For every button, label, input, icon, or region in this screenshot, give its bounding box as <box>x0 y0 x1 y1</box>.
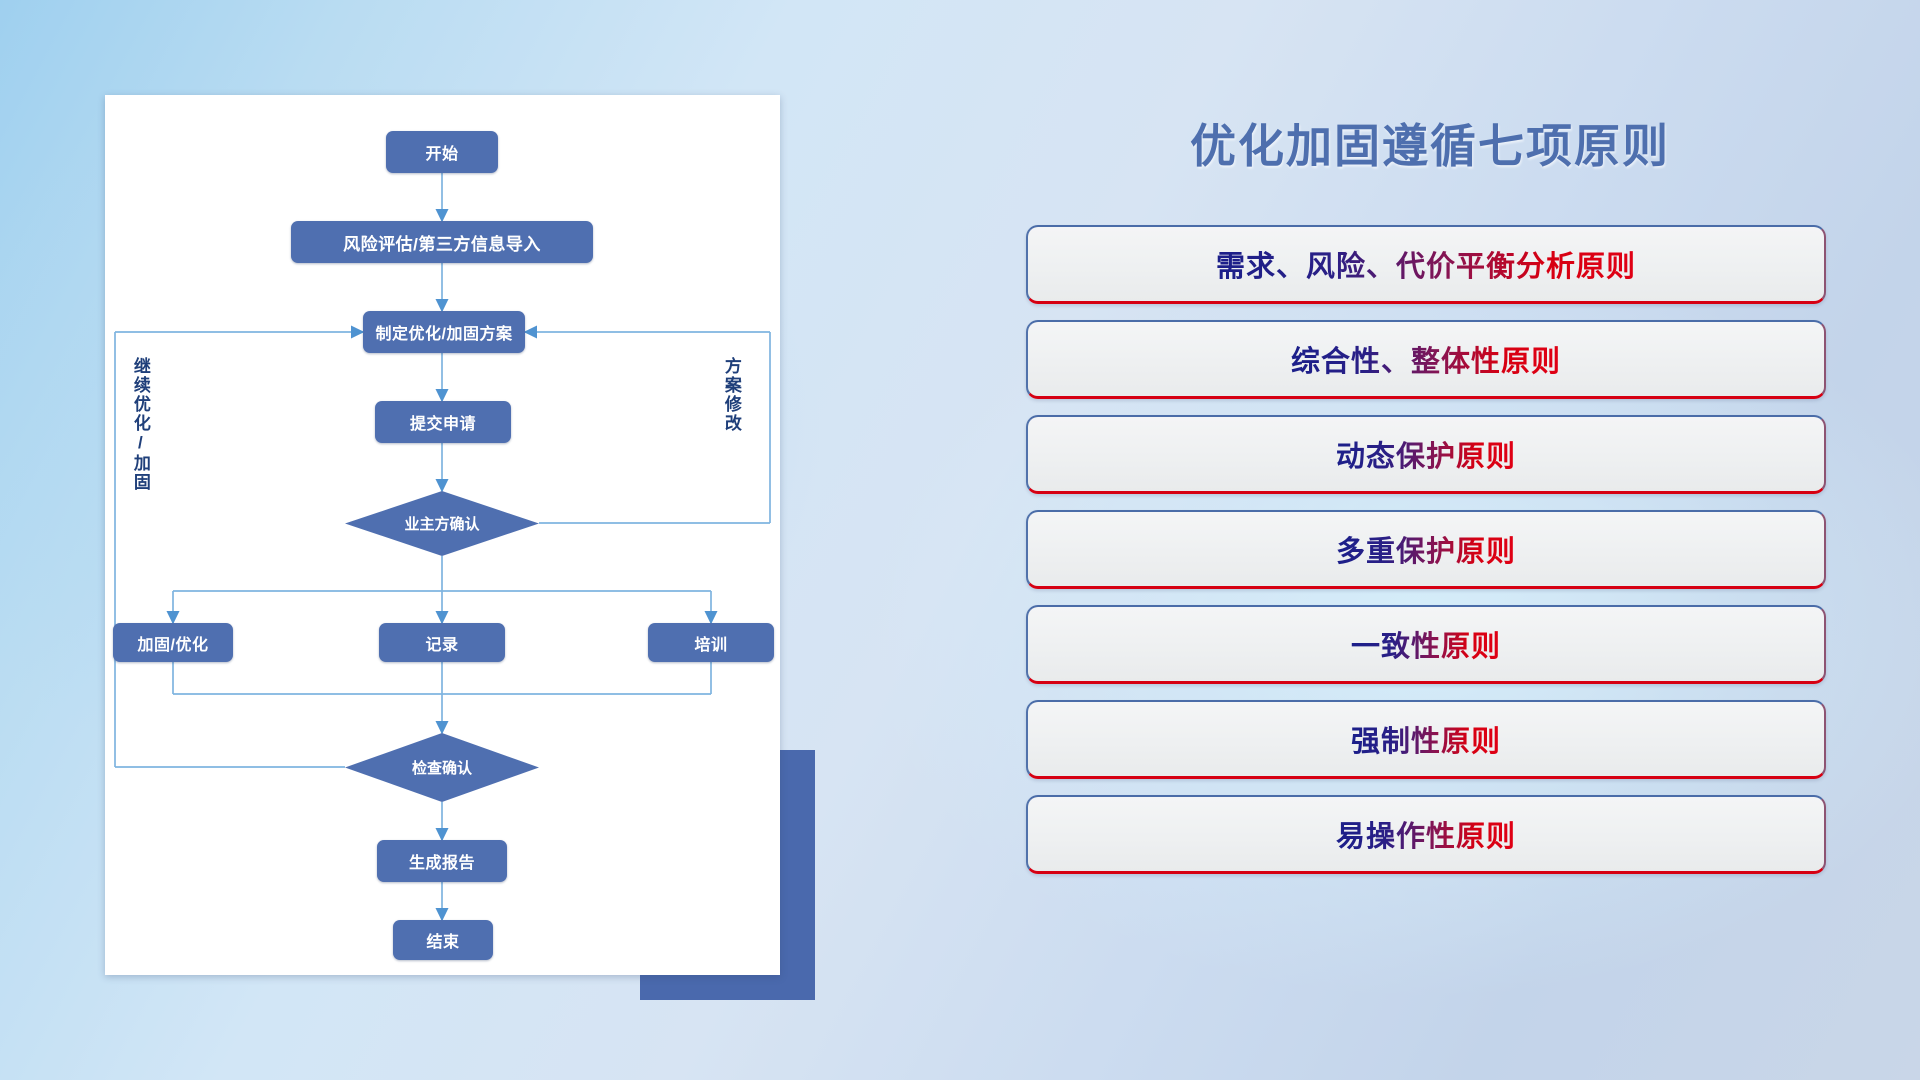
principle-item-6[interactable]: 强制性原则 <box>1026 700 1826 779</box>
principle-item-3-label: 动态保护原则 <box>1336 433 1516 475</box>
flow-node-record-label: 记录 <box>425 631 458 655</box>
flow-node-risk-assessment-label: 风险评估/第三方信息导入 <box>343 230 541 255</box>
slide-canvas: 开始 风险评估/第三方信息导入 制定优化/加固方案 提交申请 业主方确认 加固/… <box>0 0 1920 1080</box>
principle-item-2-label: 综合性、整体性原则 <box>1291 338 1561 380</box>
principle-item-7-label: 易操作性原则 <box>1336 813 1516 855</box>
flow-edge-label-continue-optimize: 继续优化/加固 <box>131 357 149 492</box>
flow-node-plan-label: 制定优化/加固方案 <box>376 320 513 344</box>
principle-item-1-label: 需求、风险、代价平衡分析原则 <box>1216 243 1636 285</box>
flow-node-risk-assessment[interactable]: 风险评估/第三方信息导入 <box>291 221 593 263</box>
flow-node-start[interactable]: 开始 <box>386 131 498 173</box>
flow-node-end[interactable]: 结束 <box>393 920 493 960</box>
flow-node-generate-report[interactable]: 生成报告 <box>377 840 507 882</box>
flow-node-record[interactable]: 记录 <box>379 623 505 662</box>
flow-decision-check-confirm[interactable]: 检查确认 <box>345 733 539 802</box>
principle-item-2[interactable]: 综合性、整体性原则 <box>1026 320 1826 399</box>
flow-node-generate-report-label: 生成报告 <box>409 849 475 873</box>
flow-node-submit-application[interactable]: 提交申请 <box>375 401 511 443</box>
flow-node-training[interactable]: 培训 <box>648 623 774 662</box>
principle-item-5-label: 一致性原则 <box>1351 623 1501 665</box>
flowchart-card: 开始 风险评估/第三方信息导入 制定优化/加固方案 提交申请 业主方确认 加固/… <box>105 95 780 975</box>
flow-node-start-label: 开始 <box>425 140 458 164</box>
principle-item-1[interactable]: 需求、风险、代价平衡分析原则 <box>1026 225 1826 304</box>
principle-item-6-label: 强制性原则 <box>1351 718 1501 760</box>
flow-node-plan[interactable]: 制定优化/加固方案 <box>363 311 525 353</box>
principle-item-5[interactable]: 一致性原则 <box>1026 605 1826 684</box>
principles-panel: 优化加固遵循七项原则 需求、风险、代价平衡分析原则 综合性、整体性原则 动态保护… <box>1020 70 1840 1020</box>
flow-edge-label-plan-revision: 方案修改 <box>722 357 740 433</box>
principle-item-4[interactable]: 多重保护原则 <box>1026 510 1826 589</box>
flow-decision-owner-confirm-label: 业主方确认 <box>404 513 479 534</box>
flow-node-reinforce-optimize[interactable]: 加固/优化 <box>113 623 233 662</box>
principle-item-7[interactable]: 易操作性原则 <box>1026 795 1826 874</box>
principle-item-3[interactable]: 动态保护原则 <box>1026 415 1826 494</box>
principle-item-4-label: 多重保护原则 <box>1336 528 1516 570</box>
flow-node-submit-application-label: 提交申请 <box>410 410 476 434</box>
flow-node-reinforce-optimize-label: 加固/优化 <box>138 631 209 655</box>
principles-list: 需求、风险、代价平衡分析原则 综合性、整体性原则 动态保护原则 多重保护原则 一… <box>1026 225 1826 890</box>
flow-node-end-label: 结束 <box>426 928 459 952</box>
flow-node-training-label: 培训 <box>694 631 727 655</box>
principles-panel-title: 优化加固遵循七项原则 <box>1020 110 1840 176</box>
flow-decision-check-confirm-label: 检查确认 <box>412 757 472 778</box>
flow-decision-owner-confirm[interactable]: 业主方确认 <box>345 491 539 556</box>
